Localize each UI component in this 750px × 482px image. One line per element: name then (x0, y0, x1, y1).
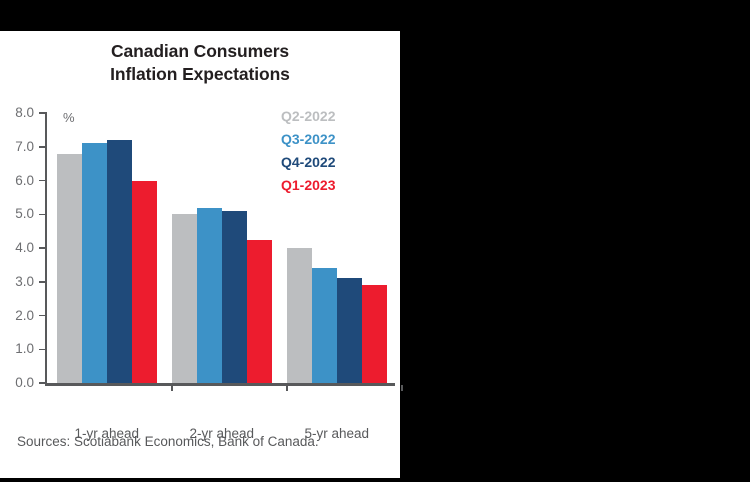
bar-q3-2022-5-yr-ahead (312, 268, 337, 383)
y-axis-tick-mark (39, 315, 46, 317)
y-axis-tick-label: 0.0 (0, 376, 34, 390)
y-axis-tick-label: 1.0 (0, 342, 34, 356)
legend-entry-q3-2022: Q3-2022 (281, 128, 335, 151)
legend-entry-q1-2023: Q1-2023 (281, 174, 335, 197)
chart-title: Canadian Consumers Inflation Expectation… (0, 40, 400, 86)
y-axis-tick-mark (39, 146, 46, 148)
bar-q1-2023-5-yr-ahead (362, 285, 387, 383)
y-axis-tick-mark (39, 349, 46, 351)
y-axis-tick-label: 6.0 (0, 174, 34, 188)
y-axis-tick-mark (39, 382, 46, 384)
x-axis-tick-mark (171, 385, 173, 391)
y-axis-tick-label: 3.0 (0, 275, 34, 289)
source-note: Sources: Scotiabank Economics, Bank of C… (17, 434, 319, 449)
bar-q4-2022-2-yr-ahead (222, 211, 247, 383)
bar-q4-2022-1-yr-ahead (107, 140, 132, 383)
y-axis-tick-mark (39, 214, 46, 216)
legend-entry-q2-2022: Q2-2022 (281, 105, 335, 128)
y-axis-tick-mark (39, 180, 46, 182)
bar-q2-2022-1-yr-ahead (57, 154, 82, 384)
bar-q3-2022-1-yr-ahead (82, 143, 107, 383)
y-axis-tick-label: 7.0 (0, 140, 34, 154)
x-axis-tick-mark (401, 385, 403, 391)
y-axis-tick-mark (39, 247, 46, 249)
y-axis-tick-label: 5.0 (0, 207, 34, 221)
bar-q2-2022-5-yr-ahead (287, 248, 312, 383)
bar-q1-2023-1-yr-ahead (132, 181, 157, 384)
plot-area (47, 113, 395, 383)
legend-entry-q4-2022: Q4-2022 (281, 151, 335, 174)
chart-card: Canadian Consumers Inflation Expectation… (0, 31, 400, 478)
y-axis-tick-label: 2.0 (0, 309, 34, 323)
bar-q2-2022-2-yr-ahead (172, 214, 197, 383)
y-axis-tick-mark (39, 281, 46, 283)
bar-q1-2023-2-yr-ahead (247, 240, 272, 383)
bar-q4-2022-5-yr-ahead (337, 278, 362, 383)
y-axis-tick-label: 4.0 (0, 241, 34, 255)
y-axis-tick-mark (39, 112, 46, 114)
bar-q3-2022-2-yr-ahead (197, 208, 222, 384)
chart-title-line-2: Inflation Expectations (0, 63, 400, 86)
chart-legend: Q2-2022Q3-2022Q4-2022Q1-2023 (281, 105, 335, 197)
screenshot-root: Canadian Consumers Inflation Expectation… (0, 0, 750, 482)
x-axis-line (45, 383, 395, 386)
y-axis-tick-label: 8.0 (0, 106, 34, 120)
chart-title-line-1: Canadian Consumers (111, 41, 289, 61)
x-axis-tick-mark (286, 385, 288, 391)
